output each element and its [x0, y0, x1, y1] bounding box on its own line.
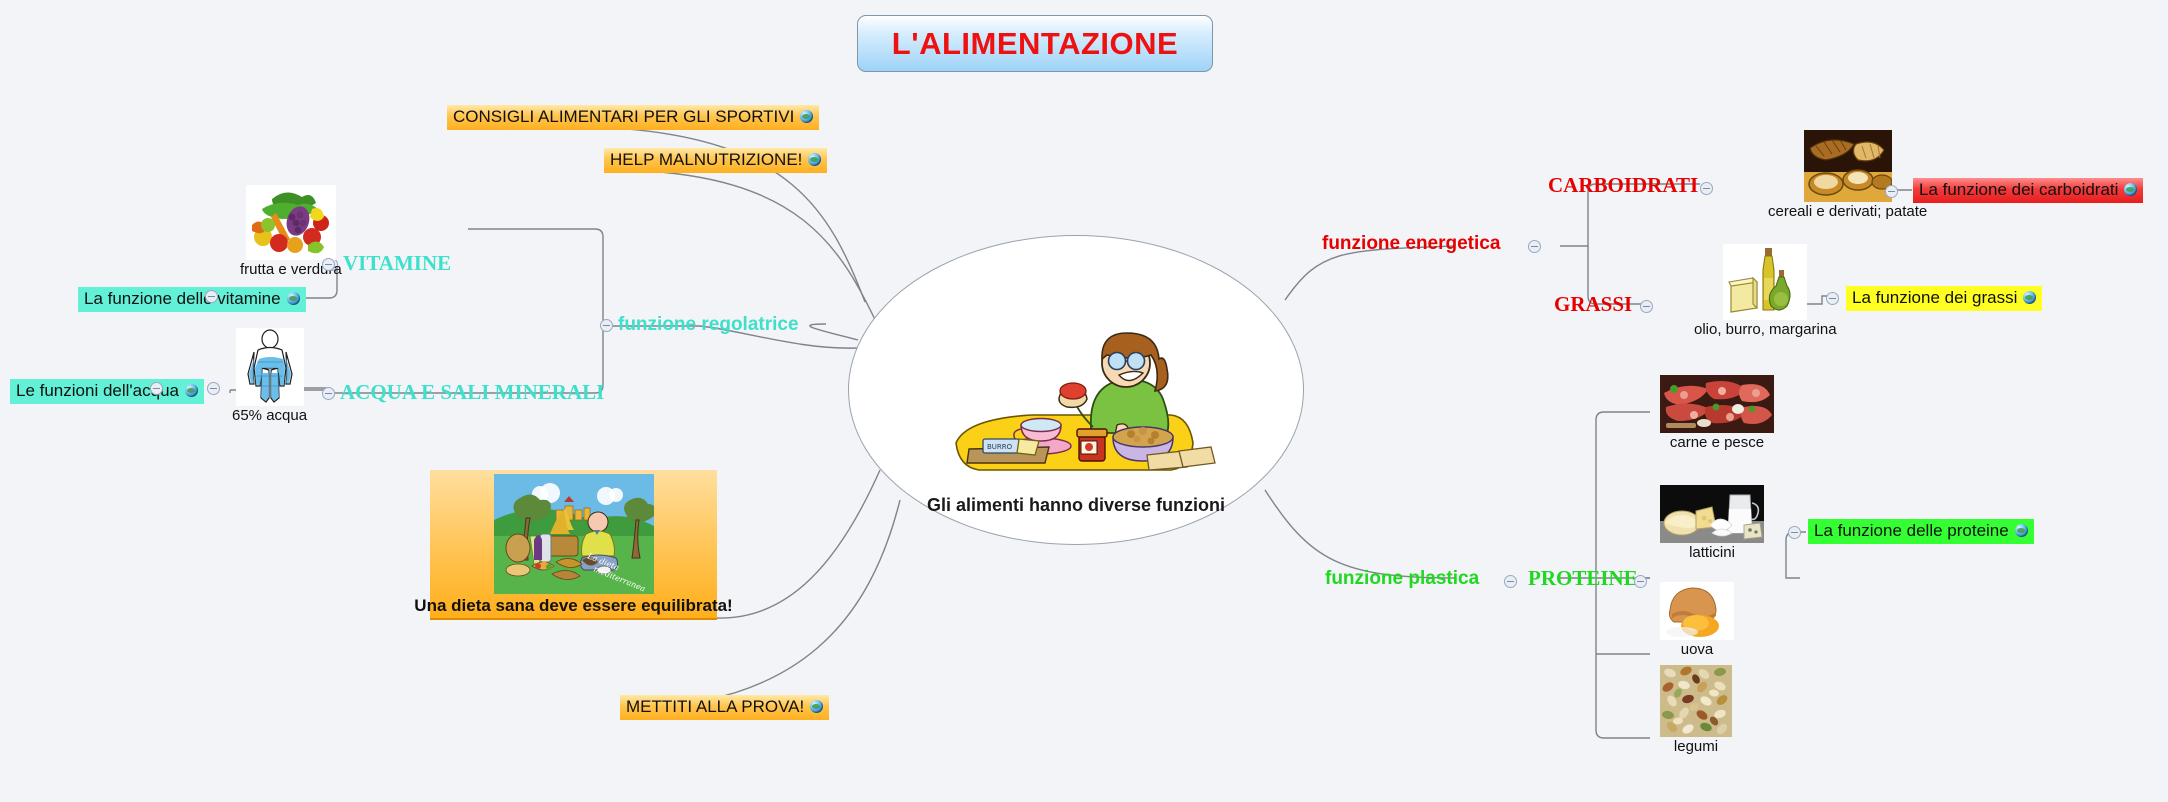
node-carboidrati-label: CARBOIDRATI — [1548, 173, 1698, 197]
food-uova[interactable]: uova — [1660, 582, 1734, 659]
link-funzione-carboidrati[interactable]: La funzione dei carboidrati — [1913, 178, 2143, 203]
food-legumi-caption: legumi — [1674, 738, 1718, 756]
globe-icon — [2023, 291, 2036, 304]
node-proteine-label: PROTEINE — [1528, 566, 1638, 590]
mindmap-canvas: L'ALIMENTAZIONE — [0, 0, 2168, 802]
food-legumi[interactable]: legumi — [1660, 665, 1732, 756]
node-acqua-sali-minerali-label: ACQUA E SALI MINERALI — [340, 380, 604, 404]
main-title-box[interactable]: L'ALIMENTAZIONE — [857, 15, 1213, 72]
node-vitamine[interactable]: VITAMINE — [325, 253, 451, 275]
svg-text:BURRO: BURRO — [987, 443, 1013, 451]
globe-icon — [800, 110, 813, 123]
node-vitamine-label: VITAMINE — [343, 251, 451, 275]
link-consigli-sportivi[interactable]: CONSIGLI ALIMENTARI PER GLI SPORTIVI — [447, 105, 819, 130]
globe-icon — [810, 700, 823, 713]
collapse-icon-frutta[interactable] — [322, 258, 335, 271]
link-mettiti-alla-prova-label: METTITI ALLA PROVA! — [626, 697, 804, 717]
node-proteine[interactable]: PROTEINE — [1528, 568, 1638, 590]
fruit-and-vegetables-photo — [246, 185, 336, 260]
diet-banner-caption: Una dieta sana deve essere equilibrata! — [414, 596, 732, 616]
link-funzione-grassi[interactable]: La funzione dei grassi — [1846, 286, 2042, 311]
node-carboidrati[interactable]: CARBOIDRATI — [1548, 175, 1698, 197]
food-carne-pesce[interactable]: carne e pesce — [1660, 375, 1774, 452]
food-olio-burro-caption: olio, burro, margarina — [1694, 321, 1837, 339]
branch-funzione-energetica[interactable]: funzione energetica — [1322, 234, 1500, 254]
diet-banner[interactable]: La dieta mediterranea Una dieta sana dev… — [430, 470, 717, 620]
legumes-photo — [1660, 665, 1732, 737]
link-consigli-sportivi-label: CONSIGLI ALIMENTARI PER GLI SPORTIVI — [453, 107, 794, 127]
node-acqua-sali-minerali[interactable]: ACQUA E SALI MINERALI — [322, 382, 604, 404]
collapse-icon-acqua-link[interactable] — [150, 382, 163, 395]
collapse-icon-energetica[interactable] — [1528, 240, 1541, 253]
central-node-caption: Gli alimenti hanno diverse funzioni — [927, 495, 1225, 516]
meat-and-fish-photo — [1660, 375, 1774, 433]
egg-photo — [1660, 582, 1734, 640]
collapse-icon[interactable] — [322, 387, 335, 400]
branch-funzione-energetica-label: funzione energetica — [1322, 233, 1500, 254]
link-funzione-proteine[interactable]: La funzione delle proteine — [1808, 519, 2034, 544]
collapse-icon-acqua-img[interactable] — [207, 382, 220, 395]
link-funzione-vitamine-label: La funzione delle vitamine — [84, 289, 281, 309]
collapse-icon-plastica[interactable] — [1504, 575, 1517, 588]
mediterranean-diet-illustration: La dieta mediterranea — [494, 474, 654, 594]
branch-funzione-regolatrice-label: funzione regolatrice — [618, 314, 799, 335]
branch-funzione-regolatrice[interactable]: funzione regolatrice — [600, 315, 799, 335]
food-olio-burro[interactable]: olio, burro, margarina — [1694, 244, 1837, 339]
branch-funzione-plastica[interactable]: funzione plastica — [1325, 569, 1479, 589]
food-latticini[interactable]: latticini — [1660, 485, 1764, 562]
food-65-acqua-caption: 65% acqua — [232, 407, 307, 425]
link-help-malnutrizione[interactable]: HELP MALNUTRIZIONE! — [604, 148, 827, 173]
food-65-acqua[interactable]: 65% acqua — [232, 328, 307, 425]
globe-icon — [808, 153, 821, 166]
collapse-icon-vitamine-link[interactable] — [205, 290, 218, 303]
food-uova-caption: uova — [1681, 641, 1714, 659]
food-cereali[interactable]: cereali e derivati; patate — [1768, 130, 1927, 221]
dairy-products-photo — [1660, 485, 1764, 543]
globe-icon — [2015, 524, 2028, 537]
collapse-icon[interactable] — [600, 319, 613, 332]
food-cereali-caption: cereali e derivati; patate — [1768, 203, 1927, 221]
food-latticini-caption: latticini — [1689, 544, 1735, 562]
branch-funzione-plastica-label: funzione plastica — [1325, 568, 1479, 589]
central-node[interactable]: BURRO Gli alimenti hanno diverse funzion… — [848, 235, 1304, 545]
human-body-water-diagram — [236, 328, 304, 406]
oil-butter-photo — [1723, 244, 1807, 320]
link-funzione-grassi-label: La funzione dei grassi — [1852, 288, 2017, 308]
node-grassi-label: GRASSI — [1554, 292, 1632, 316]
link-funzione-vitamine[interactable]: La funzione delle vitamine — [78, 287, 306, 312]
cereals-photo — [1804, 130, 1892, 202]
globe-icon — [287, 292, 300, 305]
collapse-icon-proteine-link[interactable] — [1788, 526, 1801, 539]
globe-icon — [185, 384, 198, 397]
collapse-icon-grassi[interactable] — [1640, 300, 1653, 313]
collapse-icon-proteine[interactable] — [1634, 575, 1647, 588]
collapse-icon-carboidrati[interactable] — [1700, 182, 1713, 195]
food-carne-pesce-caption: carne e pesce — [1670, 434, 1764, 452]
girl-eating-breakfast-illustration: BURRO — [921, 315, 1231, 495]
collapse-icon-grassi-link[interactable] — [1826, 292, 1839, 305]
link-funzioni-acqua[interactable]: Le funzioni dell'acqua — [10, 379, 204, 404]
link-mettiti-alla-prova[interactable]: METTITI ALLA PROVA! — [620, 695, 829, 720]
link-funzione-carboidrati-label: La funzione dei carboidrati — [1919, 180, 2118, 200]
globe-icon — [2124, 183, 2137, 196]
link-help-malnutrizione-label: HELP MALNUTRIZIONE! — [610, 150, 802, 170]
node-grassi[interactable]: GRASSI — [1554, 294, 1632, 316]
main-title-text: L'ALIMENTAZIONE — [892, 26, 1178, 62]
link-funzione-proteine-label: La funzione delle proteine — [1814, 521, 2009, 541]
collapse-icon-carboidrati-link[interactable] — [1885, 185, 1898, 198]
